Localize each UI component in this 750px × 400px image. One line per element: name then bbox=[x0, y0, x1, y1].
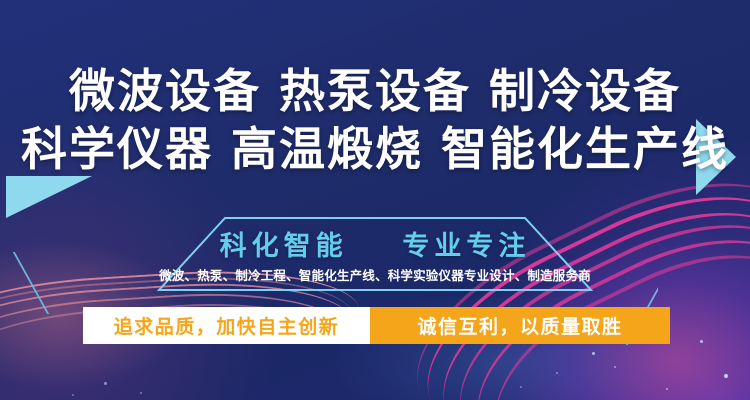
slogan-pill-left: 追求品质，加快自主创新 bbox=[83, 307, 370, 344]
slogan-subtitle: 微波、热泵、制冷工程、智能化生产线、科学实验仪器专业设计、制造服务商 bbox=[157, 265, 593, 284]
headline-line-1: 微波设备 热泵设备 制冷设备 bbox=[0, 62, 750, 120]
slogan-main-right: 专业专注 bbox=[402, 231, 530, 262]
light-streak-top-left bbox=[0, 0, 220, 64]
slogan-pill-right: 诚信互利，以质量取胜 bbox=[370, 307, 670, 344]
promo-banner: 微波设备 热泵设备 制冷设备 科学仪器 高温煅烧 智能化生产线 科化智能 专业专… bbox=[0, 0, 750, 400]
triangle-outline-left bbox=[2, 252, 120, 314]
slogan-trapezoid: 科化智能 专业专注 微波、热泵、制冷工程、智能化生产线、科学实验仪器专业设计、制… bbox=[157, 216, 593, 292]
headline-line-2: 科学仪器 高温煅烧 智能化生产线 bbox=[0, 120, 750, 178]
slogan-main: 科化智能 专业专注 bbox=[157, 224, 593, 263]
slogan-main-left: 科化智能 bbox=[220, 231, 348, 262]
headline: 微波设备 热泵设备 制冷设备 科学仪器 高温煅烧 智能化生产线 bbox=[0, 62, 750, 178]
triangle-decor-left bbox=[6, 176, 92, 218]
slogan-pill-group: 追求品质，加快自主创新 诚信互利，以质量取胜 bbox=[83, 307, 670, 344]
